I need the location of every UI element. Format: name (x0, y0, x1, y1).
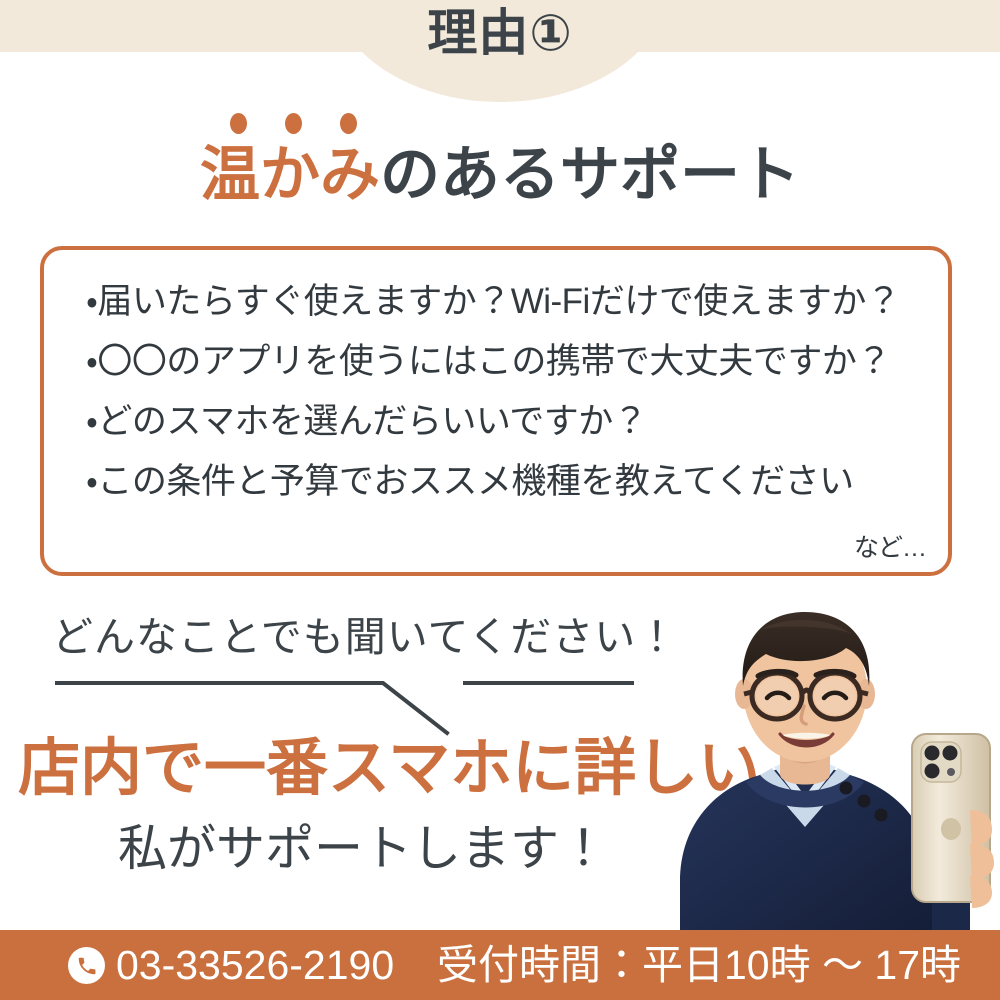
emphasis-dots (222, 113, 372, 135)
headline-accent: 温かみ (200, 141, 380, 208)
staff-photo (640, 582, 1000, 940)
callout-subheadline: 私がサポートします！ (118, 825, 608, 874)
promo-poster: 理由① 温かみのあるサポート ・届いたらすぐ使えますか？Wi-Fiだけで使えます… (0, 0, 1000, 1000)
question-list: ・届いたらすぐ使えますか？Wi-Fiだけで使えますか？ ・〇〇のアプリを使うには… (86, 274, 926, 524)
sweater (680, 760, 932, 940)
emphasis-dot (340, 113, 357, 134)
list-item: ・届いたらすぐ使えますか？Wi-Fiだけで使えますか？ (86, 284, 926, 319)
question-list-box: ・届いたらすぐ使えますか？Wi-Fiだけで使えますか？ ・〇〇のアプリを使うには… (40, 246, 952, 576)
sweater-button (858, 795, 871, 808)
business-hours: 受付時間：平日10時 〜 17時 (437, 943, 961, 987)
list-item: ・この条件と予算でおススメ機種を教えてください (86, 464, 926, 499)
list-item: ・どのスマホを選んだらいいですか？ (86, 404, 926, 439)
reason-badge-label: 理由① (0, 8, 1000, 58)
emphasis-dot (285, 113, 302, 134)
emphasis-dot (230, 113, 247, 134)
question-list-suffix: など… (854, 528, 926, 564)
list-item: ・〇〇のアプリを使うにはこの携帯で大丈夫ですか？ (86, 344, 926, 379)
phone-number[interactable]: 03-33526-2190 (116, 943, 394, 987)
sweater-button (840, 782, 853, 795)
phone-icon (68, 947, 105, 984)
sweater-button (875, 809, 888, 822)
headline-rest: のあるサポート (380, 141, 800, 208)
callout-subline: どんなことでも聞いてください！ (52, 603, 678, 663)
speech-tail-decoration (40, 665, 660, 740)
page-title: 温かみのあるサポート (0, 140, 1000, 209)
contact-footer: 03-33526-2190 受付時間：平日10時 〜 17時 (0, 930, 1000, 1000)
